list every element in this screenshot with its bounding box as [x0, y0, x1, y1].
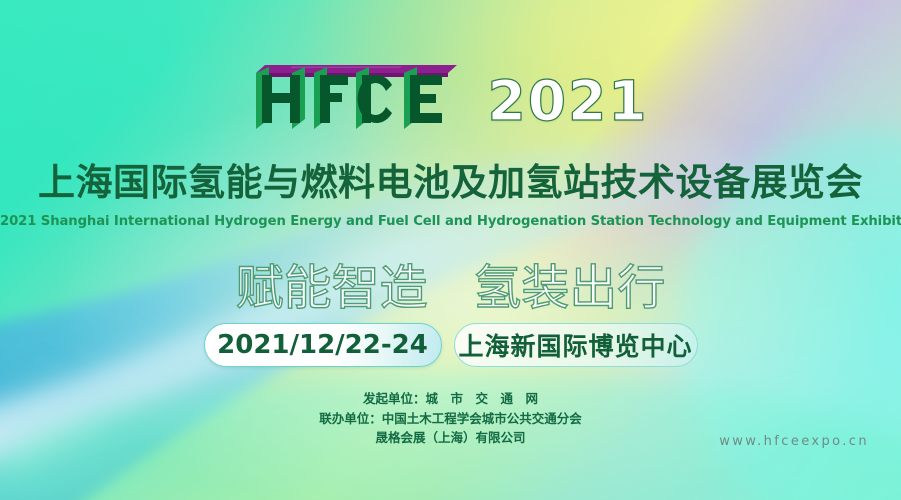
credits-line-coorganiser: 联办单位：中国土木工程学会城市公共交通分会 — [0, 409, 901, 429]
logo-row: 2021 — [0, 57, 901, 135]
poster-content: 2021 上海国际氢能与燃料电池及加氢站技术设备展览会 2021 Shangha… — [0, 0, 901, 500]
info-pill-row: 2021/12/22-24 上海新国际博览中心 — [0, 323, 901, 367]
slogan: 赋能智造 氢装出行 — [0, 260, 901, 316]
poster-canvas: 2021 上海国际氢能与燃料电池及加氢站技术设备展览会 2021 Shangha… — [0, 0, 901, 500]
hfce-logo-icon — [252, 57, 457, 135]
event-venue-pill[interactable]: 上海新国际博览中心 — [454, 323, 698, 367]
logo-year: 2021 — [487, 74, 648, 135]
event-date-pill[interactable]: 2021/12/22-24 — [204, 323, 442, 367]
credits-line-initiator: 发起单位：城 市 交 通 网 — [0, 389, 901, 409]
page-subtitle-en: 2021 Shanghai International Hydrogen Ene… — [0, 213, 901, 230]
website-url[interactable]: www.hfceexpo.cn — [719, 434, 869, 449]
page-title-cn: 上海国际氢能与燃料电池及加氢站技术设备展览会 — [0, 161, 901, 205]
